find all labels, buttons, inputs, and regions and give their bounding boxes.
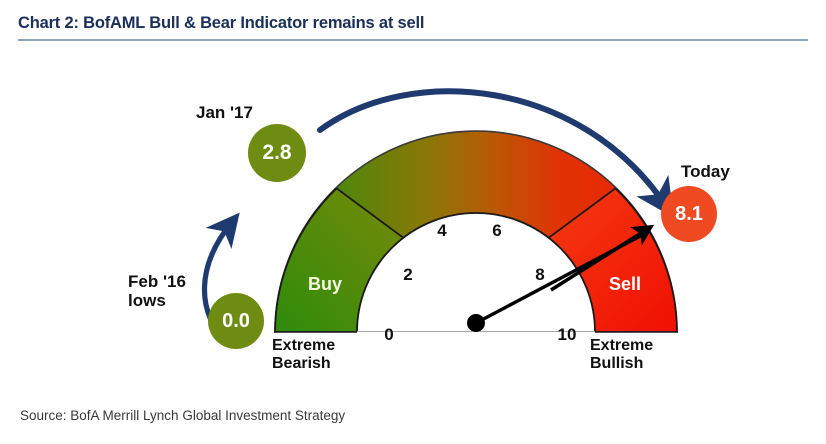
gauge-zone-sell-label: Sell: [609, 274, 641, 294]
marker-label-feb16: Feb '16 lows: [128, 272, 186, 310]
gauge-tick-10: 10: [558, 325, 577, 344]
marker-bubble-jan17: 2.8: [248, 124, 306, 182]
axis-label-extreme-bearish: Extreme Bearish: [272, 337, 335, 373]
marker-bubble-feb16: 0.0: [208, 293, 264, 349]
marker-label-jan17: Jan '17: [196, 103, 253, 122]
gauge-band: [275, 131, 677, 333]
needle-pivot: [467, 314, 485, 332]
gauge-tick-8: 8: [535, 265, 544, 284]
gauge-tick-2: 2: [403, 265, 412, 284]
gauge-tick-6: 6: [492, 221, 501, 240]
source-note: Source: BofA Merrill Lynch Global Invest…: [20, 408, 345, 423]
marker-label-today: Today: [681, 162, 730, 181]
marker-bubble-today: 8.1: [661, 186, 717, 242]
gauge-zone-buy-label: Buy: [308, 274, 342, 294]
gauge-tick-4: 4: [437, 221, 447, 240]
chart-header: Chart 2: BofAML Bull & Bear Indicator re…: [18, 14, 808, 41]
title-divider: [18, 39, 808, 41]
gauge-tick-0: 0: [384, 325, 393, 344]
axis-label-extreme-bullish: Extreme Bullish: [590, 337, 653, 373]
page-title: Chart 2: BofAML Bull & Bear Indicator re…: [18, 14, 808, 33]
